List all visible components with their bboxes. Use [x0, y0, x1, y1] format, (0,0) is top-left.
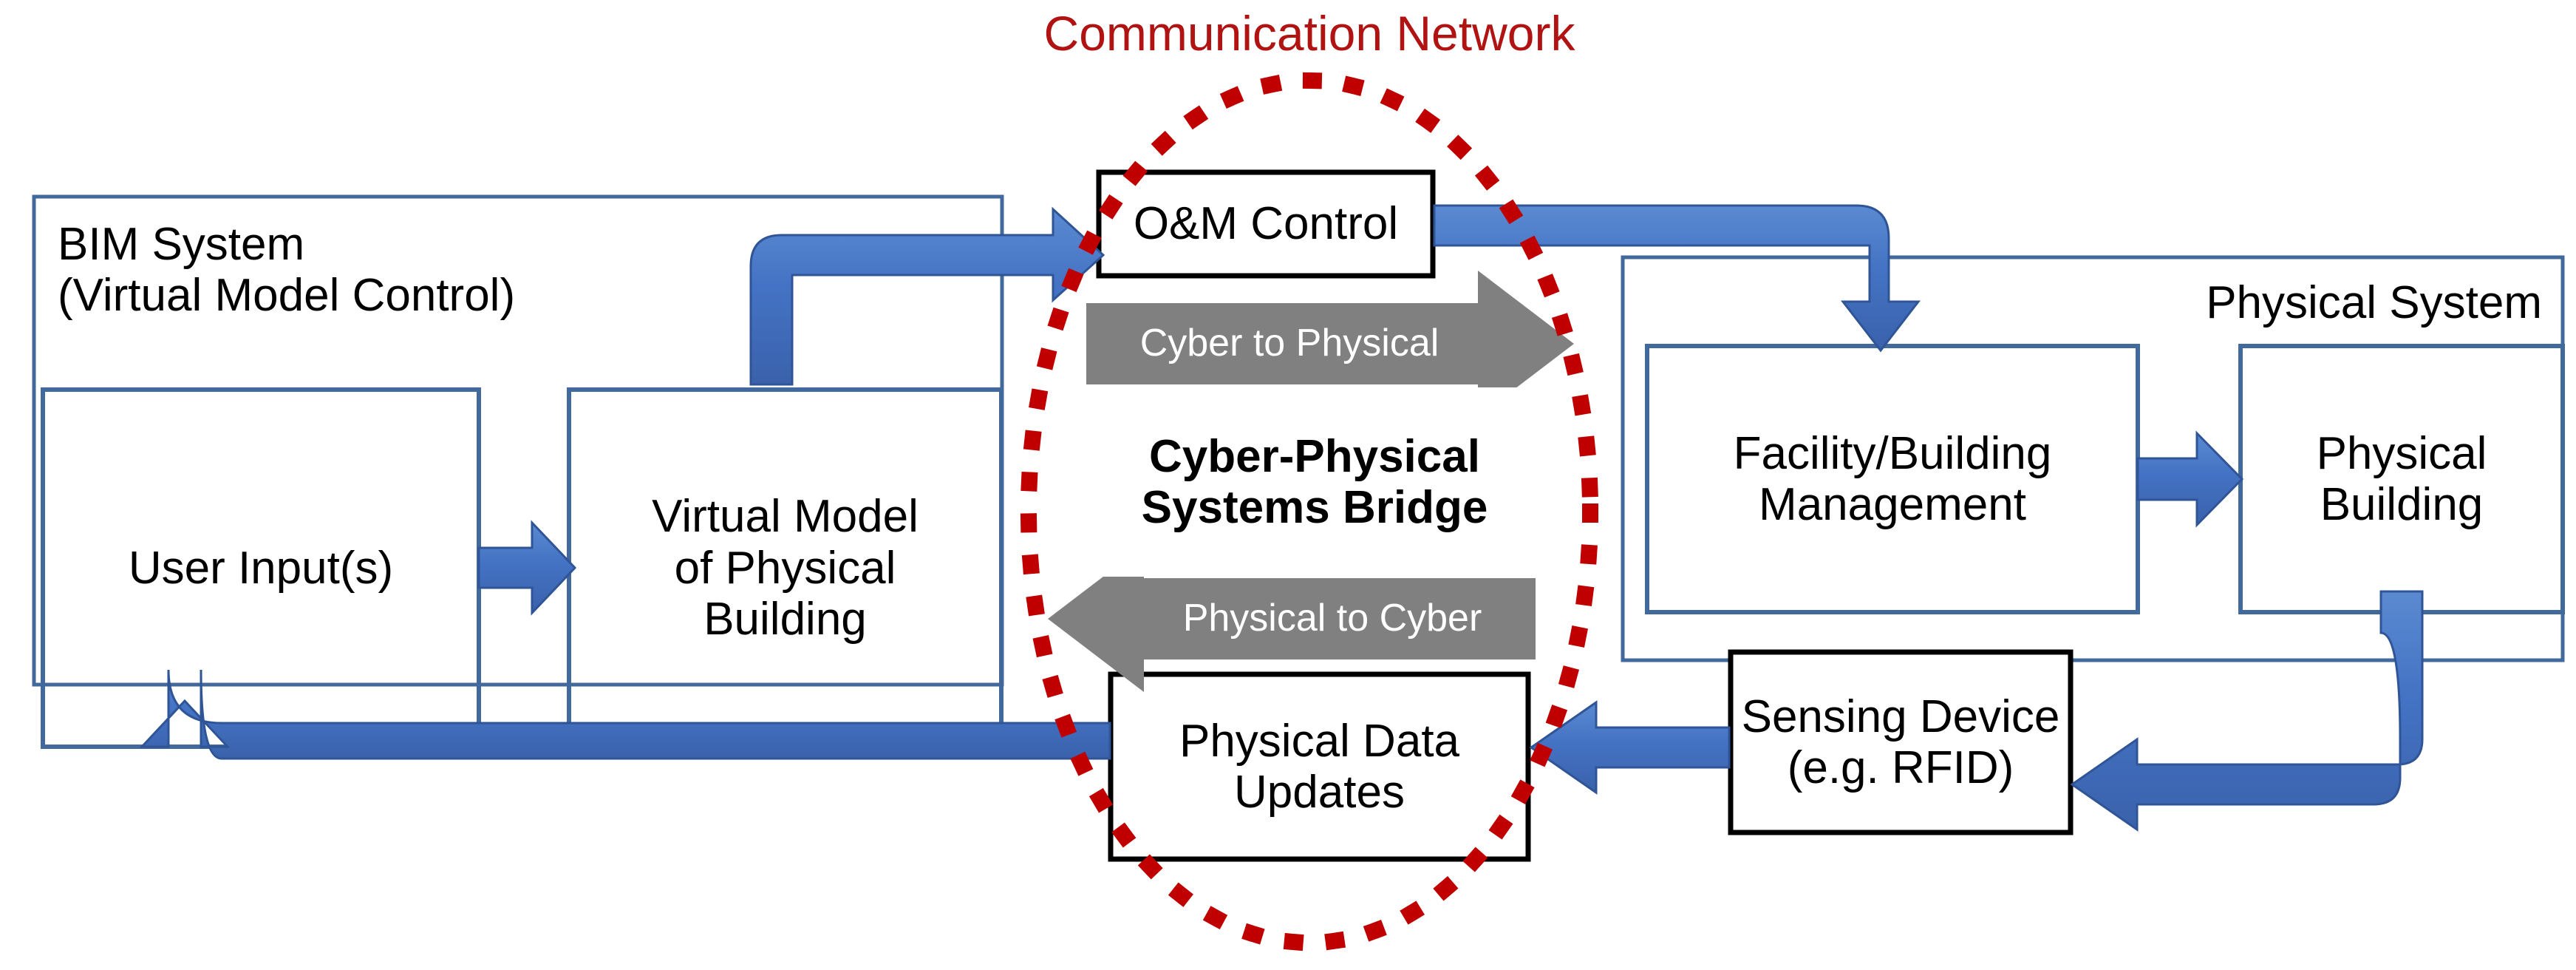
bim-system-label: BIM System (Virtual Model Control) [58, 214, 797, 325]
physical-system-label: Physical System [1670, 274, 2542, 333]
cyber-physical-systems-bridge-label: Cyber-Physical Systems Bridge [1086, 390, 1543, 574]
arrow-user-input-to-virtual-model [479, 523, 575, 613]
facility-management-label: Facility/Building Management [1647, 346, 2138, 612]
cyber-to-physical-label: Cyber to Physical [1101, 305, 1478, 382]
user-input-label: User Input(s) [43, 390, 479, 747]
arrow-physical-building-to-sensing-device [2072, 591, 2422, 830]
sensing-device-label: Sensing Device (e.g. RFID) [1731, 652, 2071, 832]
arrow-facility-to-physical-building [2138, 433, 2242, 525]
communication-network-title: Communication Network [940, 4, 1679, 64]
physical-data-updates-label: Physical Data Updates [1111, 674, 1528, 859]
om-control-label: O&M Control [1099, 172, 1433, 276]
virtual-model-label: Virtual Model of Physical Building [569, 390, 1001, 747]
physical-building-label: Physical Building [2241, 346, 2563, 612]
physical-to-cyber-label: Physical to Cyber [1144, 580, 1521, 657]
diagram-canvas: BIM System (Virtual Model Control) User … [0, 0, 2576, 970]
